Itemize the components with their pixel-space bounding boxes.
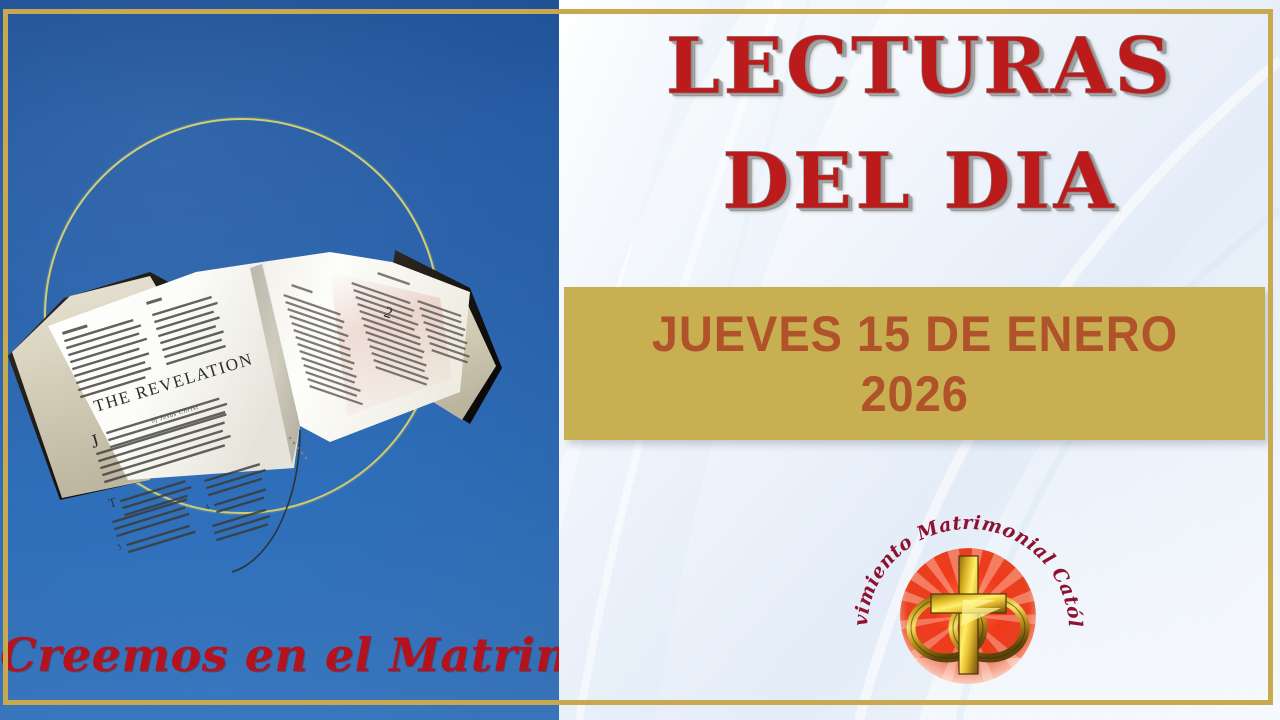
svg-text:T: T xyxy=(106,494,118,511)
title-line-del-dia: DEL DIA xyxy=(559,141,1280,222)
slide-canvas: THE REVELATION of Jesus Christ J T xyxy=(0,0,1280,720)
date-line-year: 2026 xyxy=(860,367,968,421)
left-image-panel: THE REVELATION of Jesus Christ J T xyxy=(0,0,559,720)
open-bible-illustration: THE REVELATION of Jesus Christ J T xyxy=(0,180,559,580)
bible-svg: THE REVELATION of Jesus Christ J T xyxy=(0,180,559,580)
title-line-lecturas: LECTURAS xyxy=(559,26,1280,107)
page-title: LECTURAS DEL DIA xyxy=(559,18,1280,222)
date-line-weekday: JUEVES 15 DE ENERO xyxy=(651,307,1177,361)
organization-logo: Movimiento Matrimonial Católico xyxy=(843,508,1093,708)
svg-text:4: 4 xyxy=(204,502,210,512)
date-banner: JUEVES 15 DE ENERO 2026 xyxy=(564,287,1265,440)
svg-text:3: 3 xyxy=(116,542,122,552)
logo-svg: Movimiento Matrimonial Católico xyxy=(843,508,1093,708)
tagline-text: Creemos en el Matrimonio xyxy=(0,628,545,682)
